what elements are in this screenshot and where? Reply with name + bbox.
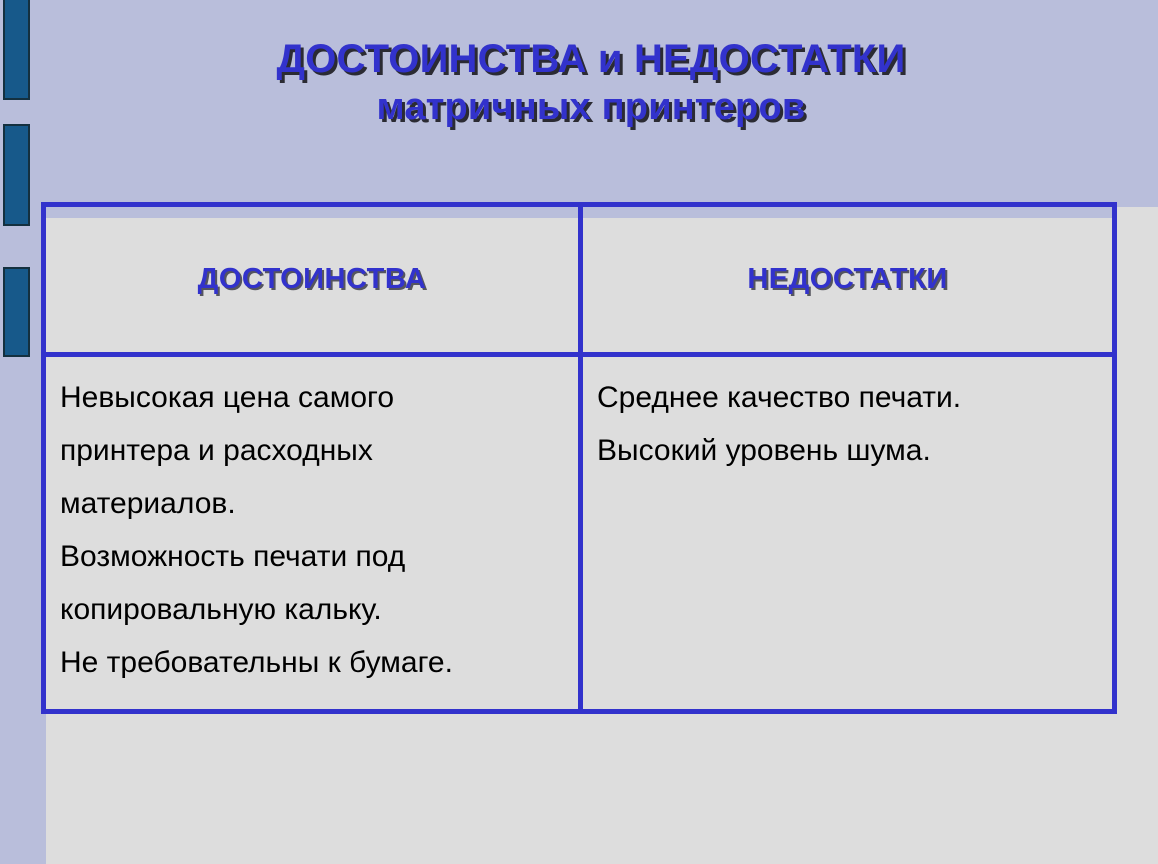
disadvantage-line: Высокий уровень шума. xyxy=(597,424,1096,477)
teal-bar-2-decoration xyxy=(3,124,30,226)
slide-title-line-1: ДОСТОИНСТВА и НЕДОСТАТКИ xyxy=(46,34,1136,84)
slide-canvas: ДОСТОИНСТВА и НЕДОСТАТКИ матричных принт… xyxy=(0,0,1158,864)
table-cell-disadvantages: Среднее качество печати. Высокий уровень… xyxy=(583,357,1112,709)
advantage-line: Возможность печати под xyxy=(60,530,562,583)
table-body-row: Невысокая цена самого принтера и расходн… xyxy=(46,357,1112,709)
disadvantage-line: Среднее качество печати. xyxy=(597,371,1096,424)
table-header-cell-advantages: ДОСТОИНСТВА xyxy=(46,207,583,352)
table-header-label-advantages: ДОСТОИНСТВА xyxy=(198,263,427,296)
table-header-cell-disadvantages: НЕДОСТАТКИ xyxy=(583,207,1112,352)
teal-bar-3-decoration xyxy=(3,267,30,357)
advantage-line: принтера и расходных xyxy=(60,424,562,477)
advantage-line: копировальную кальку. xyxy=(60,583,562,636)
slide-title-line-2: матричных принтеров xyxy=(46,84,1136,132)
slide-title: ДОСТОИНСТВА и НЕДОСТАТКИ матричных принт… xyxy=(46,34,1136,132)
advantage-line: Не требовательны к бумаге. xyxy=(60,636,562,689)
table-header-row: ДОСТОИНСТВА НЕДОСТАТКИ xyxy=(46,207,1112,357)
comparison-table: ДОСТОИНСТВА НЕДОСТАТКИ Невысокая цена са… xyxy=(41,202,1117,714)
teal-bar-1-decoration xyxy=(3,0,30,100)
advantage-line: Невысокая цена самого xyxy=(60,371,562,424)
advantage-line: материалов. xyxy=(60,477,562,530)
table-header-label-disadvantages: НЕДОСТАТКИ xyxy=(747,263,947,296)
table-cell-advantages: Невысокая цена самого принтера и расходн… xyxy=(46,357,583,709)
